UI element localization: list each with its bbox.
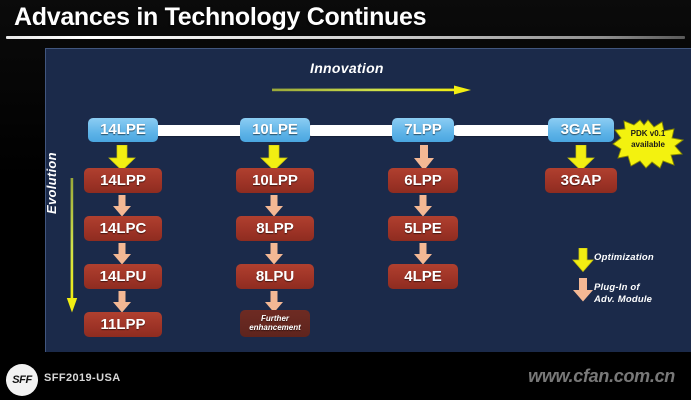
arrow-plugin-10-1 [264,195,284,217]
arrow-plugin-14-2 [112,243,132,265]
node-5lpe[interactable]: 5LPE [388,216,458,241]
rail-7-to-3 [452,125,562,136]
node-14lpu[interactable]: 14LPU [84,264,162,289]
legend-label-optimization: Optimization [594,248,654,264]
arrow-plugin-7-2 [413,243,433,265]
legend: Optimization Plug-In of Adv. Module [572,248,684,312]
legend-item-plugin: Plug-In of Adv. Module [572,278,684,306]
node-10lpp[interactable]: 10LPP [236,168,314,193]
node-14lpc[interactable]: 14LPC [84,216,162,241]
peach-down-arrow-icon [572,278,594,302]
node-head-10lpe[interactable]: 10LPE [240,118,310,142]
node-8lpp[interactable]: 8LPP [236,216,314,241]
node-3gap[interactable]: 3GAP [545,168,617,193]
node-head-7lpp[interactable]: 7LPP [392,118,454,142]
innovation-axis-label: Innovation [310,60,384,76]
arrow-plugin-10-2 [264,243,284,265]
slide-root: Advances in Technology Continues Innovat… [0,0,691,400]
innovation-arrow-icon [272,85,472,95]
arrow-plugin-14-3 [112,291,132,313]
legend-label-plugin: Plug-In of Adv. Module [594,278,652,306]
node-11lpp[interactable]: 11LPP [84,312,162,337]
title-divider [6,36,685,39]
sff-logo: SFF [6,364,38,396]
conference-label: SFF2019-USA [44,372,121,384]
node-further-enhancement[interactable]: Further enhancement [240,310,310,337]
node-6lpp[interactable]: 6LPP [388,168,458,193]
pdk-callout-starburst-icon[interactable] [612,119,684,169]
node-head-14lpe[interactable]: 14LPE [88,118,158,142]
legend-item-optimization: Optimization [572,248,684,272]
evolution-arrow-icon [66,178,78,313]
node-head-3gae[interactable]: 3GAE [548,118,614,142]
node-8lpu[interactable]: 8LPU [236,264,314,289]
page-title: Advances in Technology Continues [14,3,426,32]
evolution-axis-label: Evolution [44,152,59,214]
arrow-plugin-14-1 [112,195,132,217]
node-14lpp[interactable]: 14LPP [84,168,162,193]
yellow-down-arrow-icon [572,248,594,272]
arrow-plugin-7-1 [413,195,433,217]
node-4lpe[interactable]: 4LPE [388,264,458,289]
watermark: www.cfan.com.cn [528,366,675,387]
rail-10-to-7 [306,125,404,136]
